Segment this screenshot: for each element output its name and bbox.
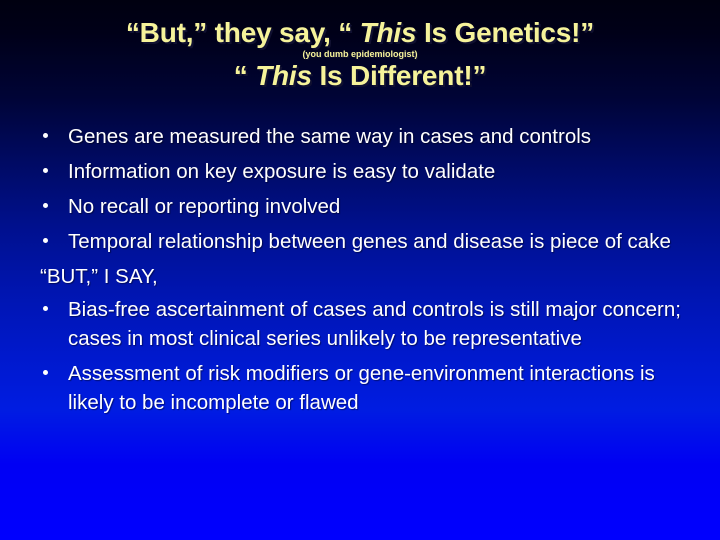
title-line-2-emphasis: This (255, 60, 312, 91)
bullet-list-item: Temporal relationship between genes and … (30, 227, 692, 256)
bullet-item-text: No recall or reporting involved (68, 195, 340, 218)
title-line-2-prefix: “ (234, 60, 255, 91)
slide-title-line-2: “ This Is Different!” (0, 61, 720, 91)
title-line-1-emphasis: This (360, 17, 417, 48)
bullet-point-icon (43, 203, 48, 208)
slide-body-list: Genes are measured the same way in cases… (30, 122, 692, 423)
bullet-point-icon (43, 238, 48, 243)
bullet-item-text: Assessment of risk modifiers or gene-env… (68, 362, 655, 414)
title-line-2-suffix: Is Different!” (312, 60, 486, 91)
bullet-point-icon (43, 133, 48, 138)
bullet-item-text: Information on key exposure is easy to v… (68, 160, 495, 183)
bullet-point-icon (43, 370, 48, 375)
title-line-1-suffix: Is Genetics!” (416, 17, 594, 48)
title-line-1-prefix: “But,” they say, “ (126, 17, 360, 48)
bullet-item-text: Temporal relationship between genes and … (68, 230, 671, 253)
bullet-item-text: “BUT,” I SAY, (40, 265, 158, 288)
slide-title-line-1: “But,” they say, “ This Is Genetics!” (0, 18, 720, 48)
bullet-list-item: Information on key exposure is easy to v… (30, 157, 692, 186)
bullet-list-item: Assessment of risk modifiers or gene-env… (30, 359, 692, 417)
bullet-point-icon (43, 168, 48, 173)
bullet-list-item: Bias-free ascertainment of cases and con… (30, 295, 692, 353)
slide-title-block: “But,” they say, “ This Is Genetics!” (y… (0, 18, 720, 91)
bullet-point-icon (43, 306, 48, 311)
slide-title-parenthetical: (you dumb epidemiologist) (0, 50, 720, 60)
bullet-list-item: Genes are measured the same way in cases… (30, 122, 692, 151)
body-statement-line: “BUT,” I SAY, (30, 262, 692, 291)
bullet-item-text: Genes are measured the same way in cases… (68, 125, 591, 148)
bullet-list-item: No recall or reporting involved (30, 192, 692, 221)
presentation-slide: “But,” they say, “ This Is Genetics!” (y… (0, 0, 720, 540)
bullet-item-text: Bias-free ascertainment of cases and con… (68, 298, 681, 350)
